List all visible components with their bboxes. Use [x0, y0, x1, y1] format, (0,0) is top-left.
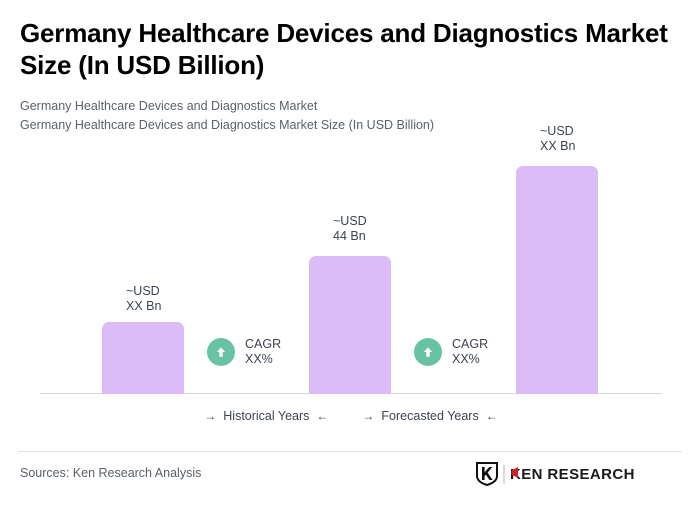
bar-value-amount: XX Bn — [126, 299, 161, 314]
period-axis-labels: → Historical Years ← → Forecasted Years … — [40, 409, 662, 423]
bar-value-unit: ~USD — [540, 124, 575, 139]
cagr-text-2: CAGR XX% — [452, 337, 488, 367]
cagr-value: XX% — [452, 352, 488, 367]
footer-divider — [18, 451, 682, 452]
cagr-annotation-1: CAGR XX% — [207, 337, 281, 367]
arrow-right-icon: → — [204, 410, 216, 422]
ken-research-wordmark: KEN RESEARCH — [510, 464, 660, 484]
cagr-value: XX% — [245, 352, 281, 367]
svg-text:KEN RESEARCH: KEN RESEARCH — [510, 466, 635, 483]
cagr-label: CAGR — [245, 337, 281, 352]
period-historical-years: → Historical Years ← — [204, 409, 328, 423]
ken-research-shield-icon — [476, 462, 498, 486]
cagr-annotation-2: CAGR XX% — [414, 337, 488, 367]
cagr-label: CAGR — [452, 337, 488, 352]
sources-text: Sources: Ken Research Analysis — [20, 466, 201, 480]
bar-value-unit: ~USD — [333, 214, 367, 229]
period-forecasted-years: → Forecasted Years ← — [362, 409, 497, 423]
period-label: Historical Years — [223, 409, 309, 423]
bar-1[interactable] — [102, 322, 184, 394]
chart-page: Germany Healthcare Devices and Diagnosti… — [0, 0, 700, 520]
cagr-text-1: CAGR XX% — [245, 337, 281, 367]
bar-value-amount: 44 Bn — [333, 229, 367, 244]
bar-value-label: ~USD XX Bn — [540, 124, 575, 154]
ken-research-logo: KEN RESEARCH — [476, 462, 660, 486]
arrow-left-icon: ← — [486, 410, 498, 422]
bar-value-unit: ~USD — [126, 284, 161, 299]
bar-value-label: ~USD XX Bn — [126, 284, 161, 314]
arrow-up-icon — [414, 338, 442, 366]
chart-plot-area: ~USD XX Bn CAGR XX% ~USD 44 Bn — [0, 0, 700, 400]
arrow-up-icon — [207, 338, 235, 366]
bar-3[interactable] — [516, 166, 598, 394]
bar-value-label: ~USD 44 Bn — [333, 214, 367, 244]
bar-2[interactable] — [309, 256, 391, 394]
period-label: Forecasted Years — [381, 409, 478, 423]
arrow-left-icon: ← — [316, 410, 328, 422]
logo-divider — [503, 465, 505, 484]
bar-value-amount: XX Bn — [540, 139, 575, 154]
arrow-right-icon: → — [362, 410, 374, 422]
